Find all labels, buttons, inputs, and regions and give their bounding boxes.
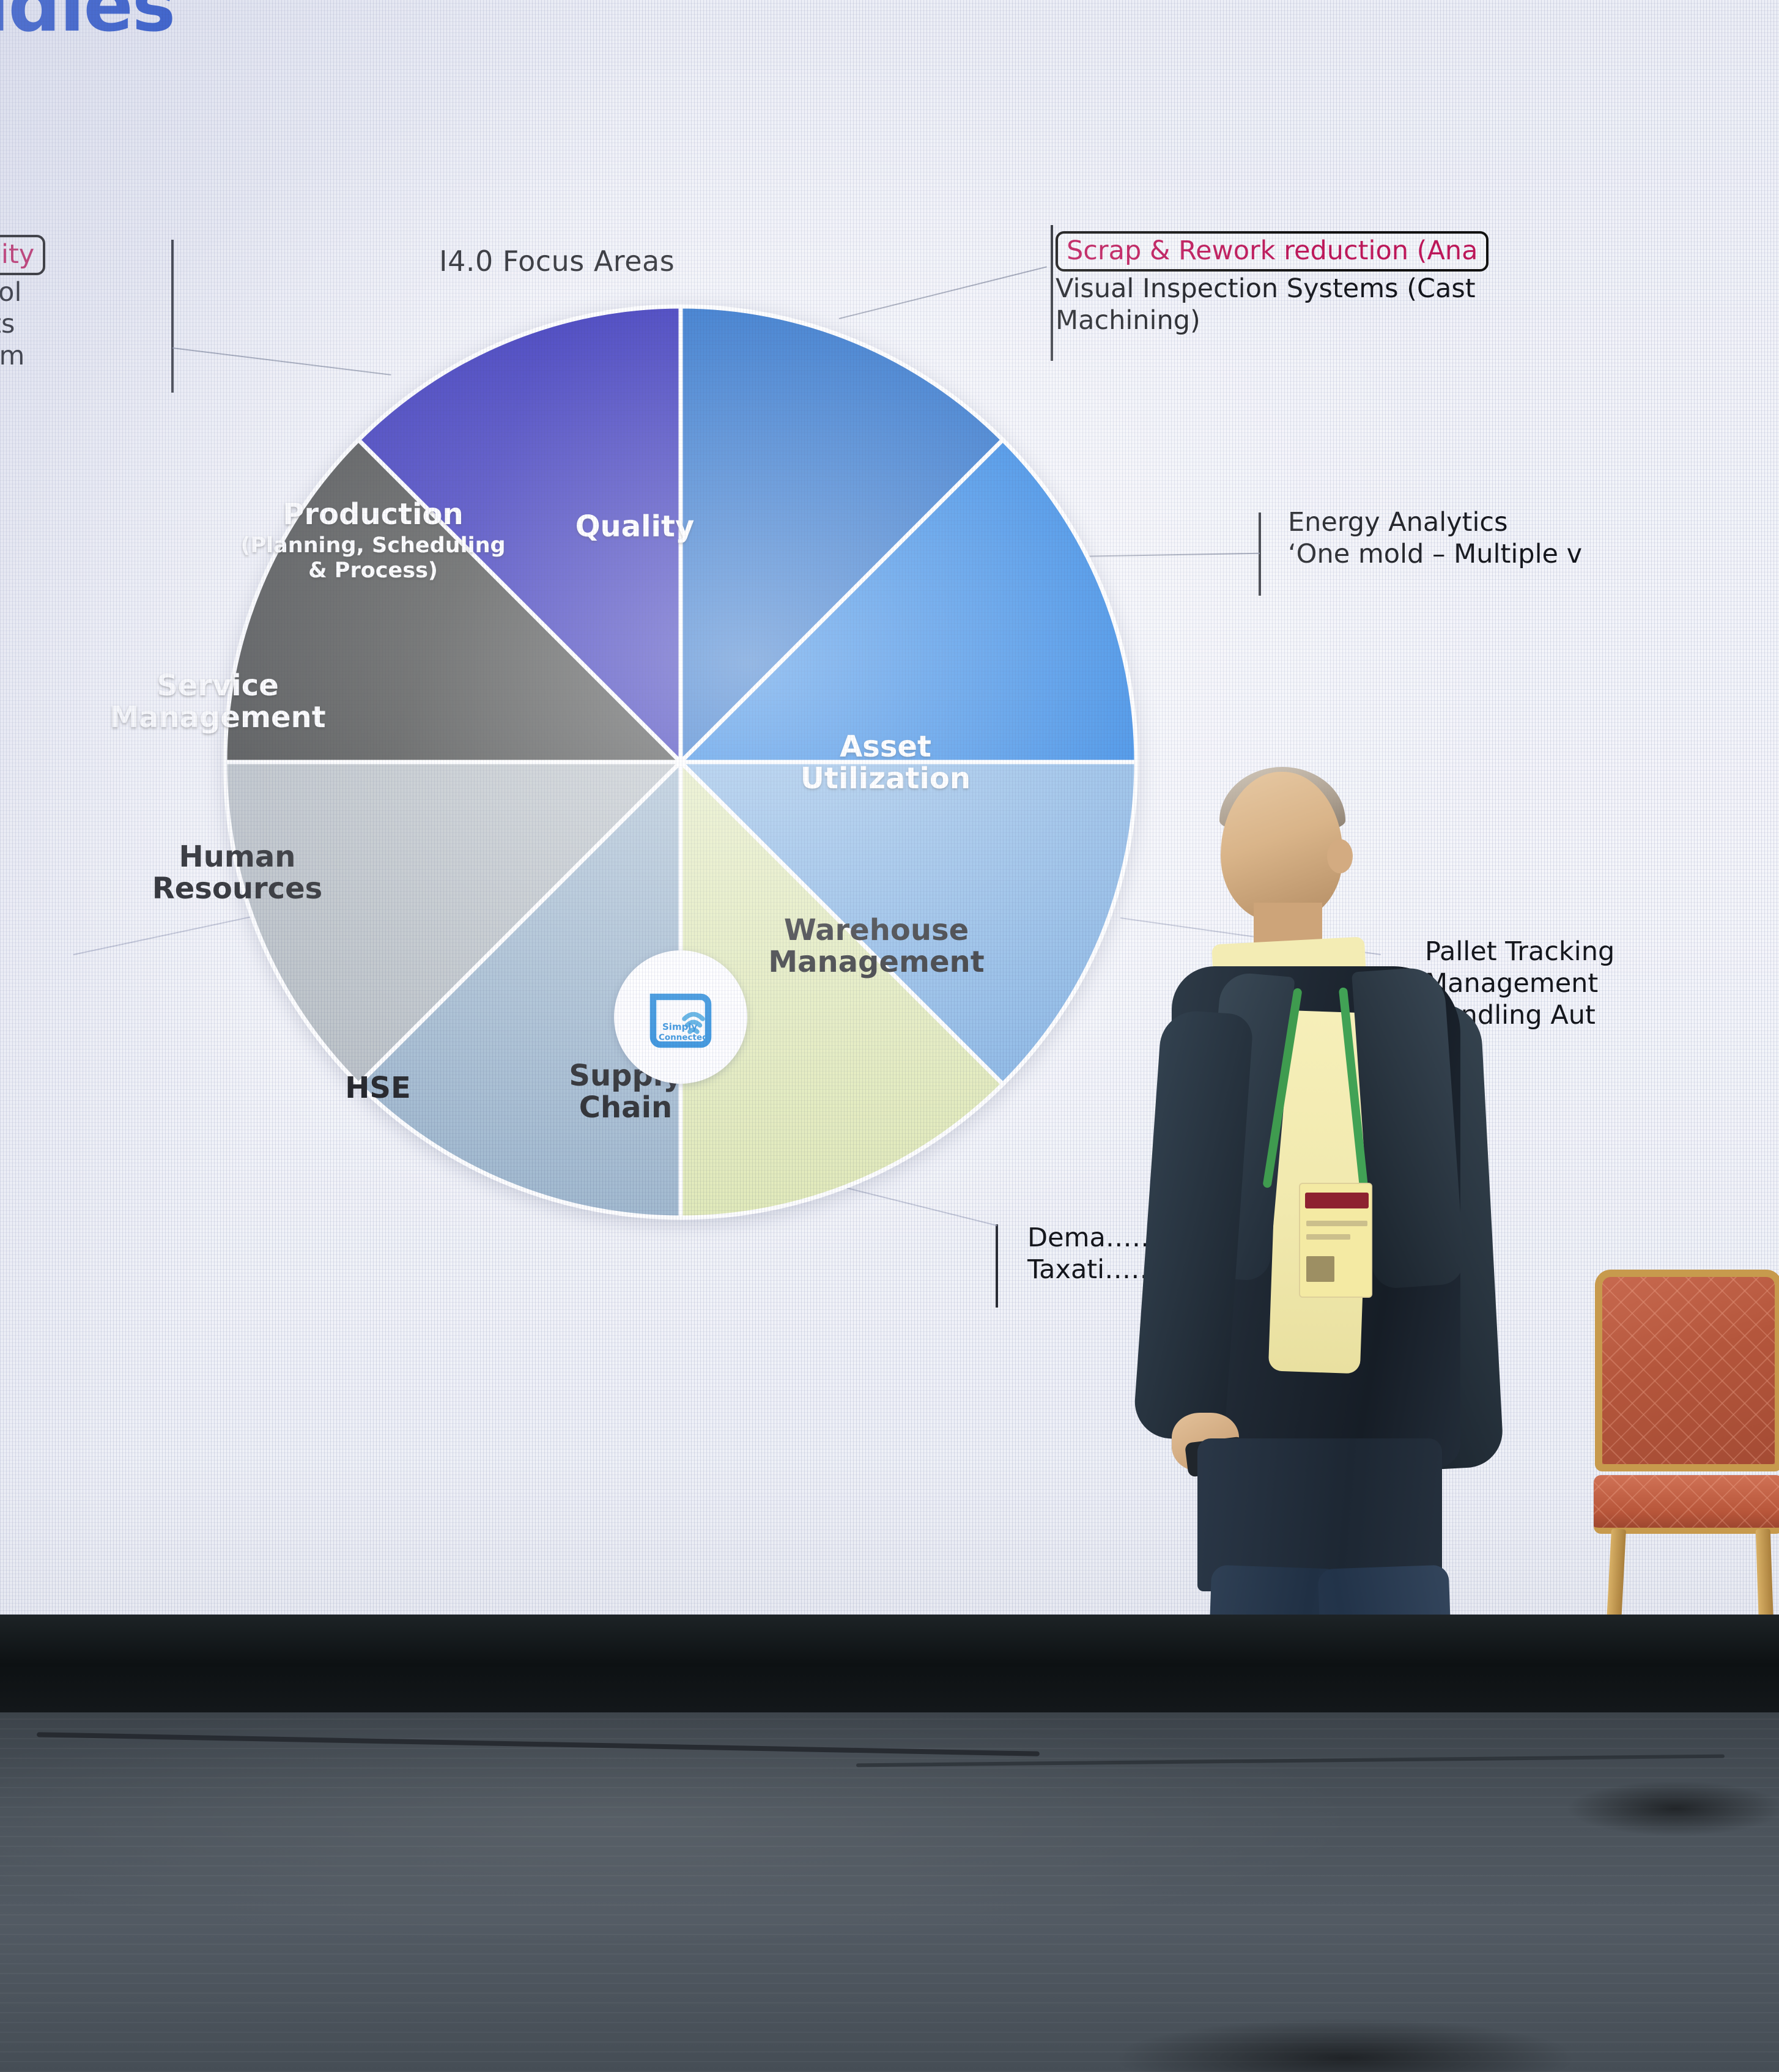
callout-energy: Energy Analytics ‘One mold – Multiple v [1288,506,1582,570]
chair-quilt-pattern [1602,1277,1775,1464]
callout-left-highlight: eability [0,234,45,276]
callout-energy-line-2: ‘One mold – Multiple v [1288,538,1582,570]
chair-seat-quilt-pattern [1594,1475,1779,1528]
callout-top-right-highlight-box: Scrap & Rework reduction (Ana [1056,231,1489,272]
conference-stage-photo: udies I4.0 Focus Areas eability Control … [0,0,1779,2072]
badge-qr-block [1306,1256,1334,1282]
callout-left-line-1: Control [0,276,45,308]
chair-backrest [1595,1270,1779,1471]
logo-line-1: Simply [662,1021,697,1032]
callout-left-line-3: System [0,340,45,372]
callout-left: eability Control rojects System [0,234,45,372]
slide-title: udies [0,0,174,48]
simply-connected-logo: Simply Connected. [635,971,727,1063]
chair-floor-shadow [1566,1781,1779,1836]
badge-text-line-1 [1306,1221,1367,1226]
pie-center-hub: Simply Connected. [614,950,747,1084]
callout-left-line-2: rojects [0,308,45,340]
bracket-demand [996,1224,998,1308]
badge-text-line-2 [1306,1234,1350,1240]
chart-title: I4.0 Focus Areas [439,245,675,278]
logo-line-2: Connected. [659,1033,711,1043]
callout-top-right-highlight: Scrap & Rework reduction (Ana [1056,230,1489,273]
badge-header-band [1305,1193,1369,1208]
stage-skirt [0,1615,1779,1725]
callout-top-right-line-1: Visual Inspection Systems (Cast [1056,273,1489,305]
pie-chart: Quality Asset Utilization Warehouse Mana… [103,303,1142,1221]
bracket-energy [1259,512,1261,596]
callout-energy-line-1: Energy Analytics [1288,506,1582,538]
pie-chart-svg [103,303,1142,1221]
chair-seat [1594,1475,1779,1534]
pie-chart-graphic [103,303,1142,1221]
speaker-badge [1299,1183,1372,1298]
speaker-ear [1327,839,1353,873]
simply-connected-logo-svg: Simply Connected. [635,971,727,1063]
callout-left-highlight-box: eability [0,235,45,275]
